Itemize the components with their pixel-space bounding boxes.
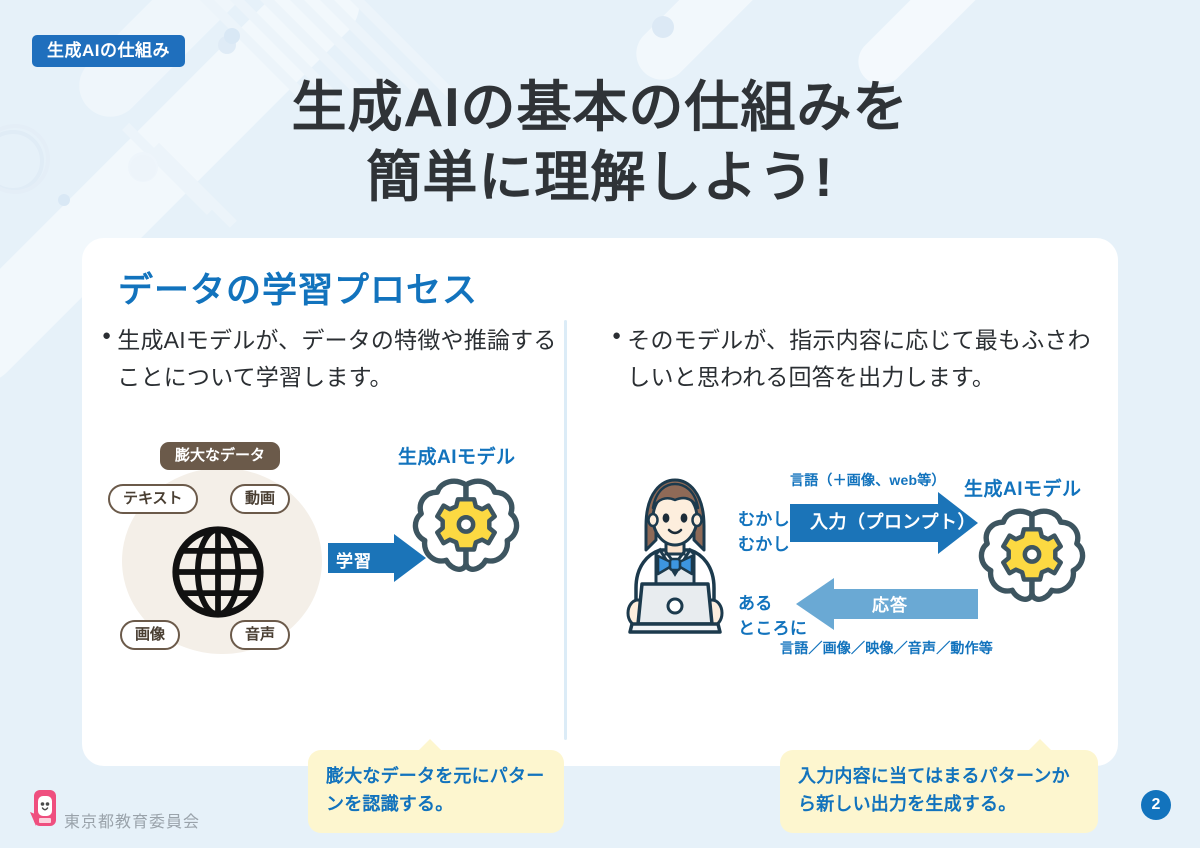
right-ai-model-label: 生成AIモデル [964,474,1082,501]
left-callout: 膨大なデータを元にパターンを認識する。 [308,750,564,833]
right-diagram: むかし むかし ある ところに 言語（＋画像、web等） 入力（プロンプト） 応… [612,470,1098,750]
brain-gear-icon [978,506,1086,615]
tokyo-mascot-icon [28,786,62,837]
right-column: ● そのモデルが、指示内容に応じて最もふさわしいと思われる回答を出力します。 [612,322,1098,397]
left-bullet: ● 生成AIモデルが、データの特徴や推論することについて学習します。 [102,322,564,397]
student-with-laptop-icon [616,470,734,647]
input-caption: 言語（＋画像、web等） [790,470,946,490]
content-card: データの学習プロセス ● 生成AIモデルが、データの特徴や推論することについて学… [82,238,1118,766]
left-bullet-text: 生成AIモデルが、データの特徴や推論することについて学習します。 [117,322,564,397]
page-title-line2: 簡単に理解しよう! [0,142,1200,212]
globe-icon [170,524,266,625]
input-arrow: 入力（プロンプト） [790,492,978,559]
output-arrow-label: 応答 [872,591,908,616]
bg-dot [652,16,674,38]
output-arrow: 応答 [796,578,978,635]
bullet-marker-icon: ● [102,322,111,397]
brain-gear-icon [412,476,520,585]
prompt-speech-text: むかし むかし [738,508,790,557]
massive-data-pill: 膨大なデータ [160,442,280,470]
output-caption: 言語／画像／映像／音声／動作等 [780,638,993,658]
right-callout: 入力内容に当てはまるパターンから新しい出力を生成する。 [780,750,1098,833]
bullet-marker-icon: ● [612,322,621,397]
right-bullet-text: そのモデルが、指示内容に応じて最もふさわしいと思われる回答を出力します。 [627,322,1098,397]
column-divider [564,320,567,740]
left-diagram: 膨大なデータ テキスト 動画 画像 音声 [102,438,564,738]
prompt-speech-line1: むかし [738,508,790,533]
bg-dot [224,28,240,44]
data-tag-video: 動画 [230,484,290,514]
organization-name: 東京都教育委員会 [64,808,200,832]
prompt-speech-line2: むかし [738,533,790,558]
input-arrow-label: 入力（プロンプト） [810,508,976,534]
page-number: 2 [1141,790,1171,820]
data-tag-text: テキスト [108,484,198,514]
left-column: ● 生成AIモデルが、データの特徴や推論することについて学習します。 膨大なデー… [102,322,564,397]
page-title: 生成AIの基本の仕組みを 簡単に理解しよう! [0,72,1200,213]
bg-dot [218,36,236,54]
learning-arrow-label: 学習 [336,547,372,572]
card-heading: データの学習プロセス [118,262,478,313]
section-badge: 生成AIの仕組み [32,35,185,67]
page-title-line1: 生成AIの基本の仕組みを [0,72,1200,142]
left-ai-model-label: 生成AIモデル [398,442,516,469]
right-bullet: ● そのモデルが、指示内容に応じて最もふさわしいと思われる回答を出力します。 [612,322,1098,397]
